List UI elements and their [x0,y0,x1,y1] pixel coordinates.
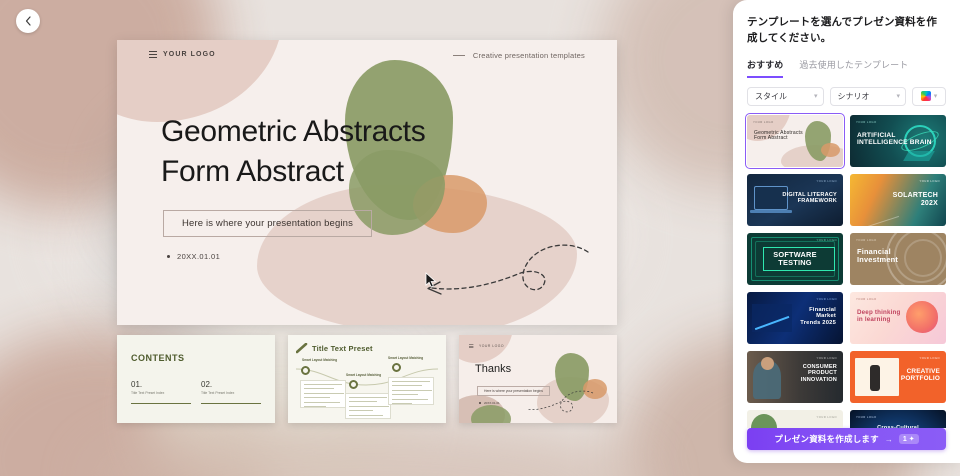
scenario-select-label: シナリオ [838,91,870,102]
card-title: ARTIFICIAL INTELLIGENCE BRAIN [857,132,932,148]
timeline-card [388,377,434,405]
style-select[interactable]: スタイル ▾ [747,87,824,106]
panel-title: テンプレートを選んでプレゼン資料を作成してください。 [747,14,946,47]
bullet-icon [167,255,170,258]
template-card-geometric-abstracts[interactable]: YOUR LOGO Geometric Abstracts Form Abstr… [747,115,843,167]
tab-previously-used[interactable]: 過去使用したテンプレート [799,58,908,78]
thanks-blob [471,405,511,423]
slide-title: Geometric Abstracts Form Abstract [161,112,425,192]
style-select-label: スタイル [755,91,787,102]
chevron-left-icon [24,16,32,26]
card-title: DIGITAL LITERACY FRAMEWORK [782,192,837,205]
card-title: Financial Investment [857,248,898,265]
timeline-node-label: Smart Layout Matching [302,358,337,362]
template-card-creative-portfolio[interactable]: YOUR LOGO CREATIVE PORTFOLIO [850,351,946,403]
slide-subtitle: Here is where your presentation begins [163,210,372,237]
card-logo: YOUR LOGO [856,415,877,419]
card-logo: YOUR LOGO [919,356,940,360]
template-grid: YOUR LOGO Geometric Abstracts Form Abstr… [733,106,960,428]
slide-title-line-1: Geometric Abstracts [161,112,425,152]
timeline-node-label: Smart Layout Matching [346,373,381,377]
card-title: Financial Market Trends 2025 [800,307,836,327]
chevron-down-icon: ▾ [896,92,900,100]
cta-credit-badge: 1 ✦ [899,434,919,444]
card-title: Geometric Abstracts Form Abstract [754,131,803,143]
contents-caption: Title Text Preset Index [131,391,164,395]
card-logo: YOUR LOGO [856,238,877,242]
contents-rule [201,403,261,404]
card-logo: YOUR LOGO [816,238,837,242]
template-card-solartech[interactable]: YOUR LOGO SOLARTECH 202X [850,174,946,226]
contents-rule [131,403,191,404]
template-card-artificial-intelligence-brain[interactable]: YOUR LOGO ARTIFICIAL INTELLIGENCE BRAIN [850,115,946,167]
arrow-right-icon: → [885,435,893,444]
dashed-arrow-icon [392,240,592,320]
slide-title-line-2: Form Abstract [161,152,425,192]
card-title: CREATIVE PORTFOLIO [901,368,940,383]
timeline-node [349,380,358,389]
scenario-select[interactable]: シナリオ ▾ [830,87,907,106]
template-card-software-testing[interactable]: YOUR LOGO SOFTWARE TESTING [747,233,843,285]
slide-tagline-text: Creative presentation templates [473,51,585,60]
card-logo: YOUR LOGO [856,120,877,124]
create-presentation-button[interactable]: プレゼン資料を作成します → 1 ✦ [747,428,946,450]
timeline-card [300,380,346,408]
tab-recommended[interactable]: おすすめ [747,58,783,78]
thanks-title: Thanks [475,363,511,375]
thumbnail-slide-contents[interactable]: CONTENTS 01. Title Text Preset Index 02.… [117,335,275,423]
template-card-consumer-product-innovation[interactable]: YOUR LOGO CONSUMER PRODUCT INNOVATION [747,351,843,403]
template-card-cross-cultural-negotiation[interactable]: YOUR LOGO Cross-Cultural Negotiation Str… [850,410,946,428]
timeline-node [392,363,401,372]
template-card-digital-literacy-framework[interactable]: YOUR LOGO DIGITAL LITERACY FRAMEWORK [747,174,843,226]
card-logo: YOUR LOGO [919,179,940,183]
card-logo: YOUR LOGO [816,297,837,301]
contents-title: CONTENTS [131,353,185,363]
slide-logo-text: YOUR LOGO [163,51,216,58]
card-logo: YOUR LOGO [753,120,774,124]
contents-number: 01. [131,380,142,389]
template-card-lifelong-learning-journey[interactable]: YOUR LOGO Lifelong Learning Journey [747,410,843,428]
bullet-icon [479,402,481,404]
template-picker-panel: テンプレートを選んでプレゼン資料を作成してください。 おすすめ 過去使用したテン… [733,0,960,463]
template-card-financial-market-trends[interactable]: YOUR LOGO Financial Market Trends 2025 [747,292,843,344]
cta-badge-count: 1 [903,436,907,443]
hamburger-icon [469,344,473,348]
mouse-cursor-icon [425,272,437,289]
chevron-down-icon: ▾ [814,92,818,100]
color-swatch-icon [921,91,931,101]
card-title: CONSUMER PRODUCT INNOVATION [801,364,837,384]
slide-header: YOUR LOGO Creative presentation template… [117,40,617,74]
card-logo: YOUR LOGO [816,179,837,183]
card-title: Deep thinking in learning [857,309,901,324]
contents-number: 02. [201,380,212,389]
timeline-title: Title Text Preset [312,344,373,353]
card-title: Cross-Cultural Negotiation Strategies [850,425,946,428]
back-button[interactable] [16,9,40,33]
thumbnail-slide-timeline[interactable]: Title Text Preset Smart Layout Matching … [288,335,446,423]
thumbnail-slide-thanks[interactable]: YOUR LOGO Thanks Here is where your pres… [459,335,617,423]
contents-caption: Title Text Preset Index [201,391,234,395]
template-card-financial-investment[interactable]: YOUR LOGO Financial Investment [850,233,946,285]
card-logo: YOUR LOGO [816,356,837,360]
card-title: SOFTWARE TESTING [747,251,843,268]
check-mark-icon [296,343,308,355]
panel-header: テンプレートを選んでプレゼン資料を作成してください。 おすすめ 過去使用したテン… [733,0,960,106]
panel-filters: スタイル ▾ シナリオ ▾ ▾ [747,87,946,106]
main-slide-preview[interactable]: YOUR LOGO Creative presentation template… [117,40,617,325]
card-logo: YOUR LOGO [816,415,837,419]
timeline-node-label: Smart Layout Matching [388,356,423,360]
slide-date-text: 20XX.01.01 [177,252,220,261]
cta-container: プレゼン資料を作成します → 1 ✦ [733,428,960,463]
cta-label: プレゼン資料を作成します [774,433,878,445]
slide-logo: YOUR LOGO [149,51,216,58]
sparkle-icon: ✦ [909,435,915,443]
dash-icon [453,55,465,56]
timeline-node [301,366,310,375]
hamburger-icon [149,51,157,57]
thanks-date: 20XX.01.01 [479,401,500,405]
card-logo: YOUR LOGO [856,297,877,301]
timeline-card [345,393,391,419]
thanks-logo-text: YOUR LOGO [479,344,504,348]
chevron-down-icon: ▾ [934,92,938,100]
dashed-arrow-icon [525,389,595,421]
template-card-deep-thinking-in-learning[interactable]: YOUR LOGO Deep thinking in learning [850,292,946,344]
card-title: SOLARTECH 202X [893,192,938,209]
slide-date: 20XX.01.01 [167,252,220,261]
color-select[interactable]: ▾ [912,87,946,106]
panel-tabs: おすすめ 過去使用したテンプレート [747,58,946,78]
slide-tagline: Creative presentation templates [453,51,585,60]
thanks-date-text: 20XX.01.01 [484,401,500,405]
thanks-logo: YOUR LOGO [469,343,504,349]
